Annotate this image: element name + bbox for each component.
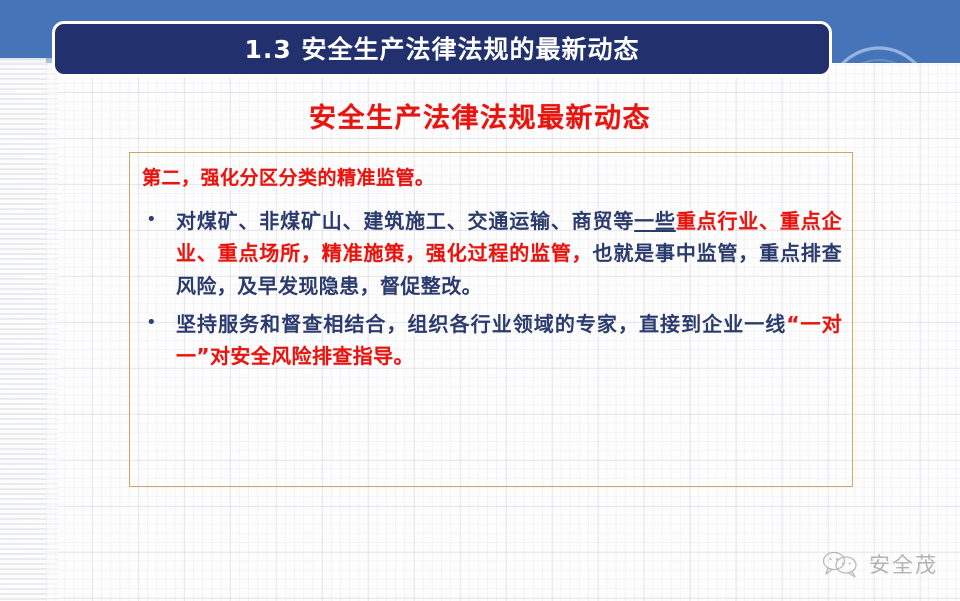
bullet-marker-icon: • — [142, 205, 176, 234]
content-inner: 第二，强化分区分类的精准监管。 •对煤矿、非煤矿山、建筑施工、交通运输、商贸等一… — [142, 167, 842, 379]
presentation-slide: 1.3 安全生产法律法规的最新动态 安全生产法律法规最新动态 第二，强化分区分类… — [0, 0, 960, 601]
slide-title-plaque: 1.3 安全生产法律法规的最新动态 — [52, 21, 832, 77]
lead-paragraph: 第二，强化分区分类的精准监管。 — [142, 167, 842, 191]
wechat-chat-icon — [821, 549, 861, 579]
watermark-label: 安全茂 — [869, 549, 938, 579]
content-box: 第二，强化分区分类的精准监管。 •对煤矿、非煤矿山、建筑施工、交通运输、商贸等一… — [129, 152, 853, 487]
bullet-text-segment: 坚持服务和督查相结合，组织各行业领域的专家，直接到企业一线 — [176, 312, 786, 336]
bullet-text-segment: 对煤矿、非煤矿山、建筑施工、交通运输、商贸等 — [176, 209, 634, 233]
bullet-item: •坚持服务和督查相结合，组织各行业领域的专家，直接到企业一线“一对一”对安全风险… — [142, 308, 842, 373]
bullet-item: •对煤矿、非煤矿山、建筑施工、交通运输、商贸等一些重点行业、重点企业、重点场所，… — [142, 205, 842, 302]
bullet-text-segment: 一些 — [634, 209, 676, 233]
left-stripe-decoration-secondary — [46, 58, 58, 601]
bullet-list: •对煤矿、非煤矿山、建筑施工、交通运输、商贸等一些重点行业、重点企业、重点场所，… — [142, 205, 842, 373]
bullet-text: 对煤矿、非煤矿山、建筑施工、交通运输、商贸等一些重点行业、重点企业、重点场所，精… — [176, 205, 842, 302]
watermark: 安全茂 — [821, 549, 938, 579]
bullet-marker-icon: • — [142, 308, 176, 337]
slide-subtitle: 安全生产法律法规最新动态 — [0, 96, 960, 135]
bullet-text: 坚持服务和督查相结合，组织各行业领域的专家，直接到企业一线“一对一”对安全风险排… — [176, 308, 842, 373]
left-stripe-decoration — [0, 58, 46, 601]
arc-decoration-icon — [820, 6, 938, 63]
page-title: 1.3 安全生产法律法规的最新动态 — [245, 37, 640, 62]
